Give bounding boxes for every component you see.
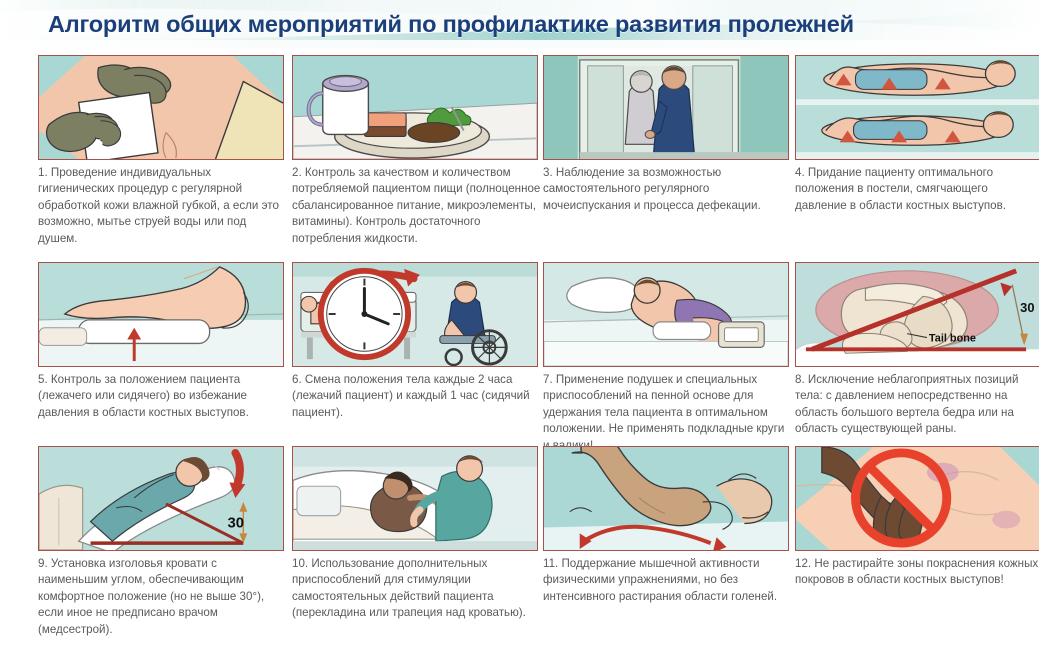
step-image-11 [543, 446, 789, 551]
step-caption-10: 10. Использование дополнительных приспос… [292, 556, 542, 622]
poster-root: Алгоритм общих мероприятий по профилакти… [0, 0, 1039, 650]
step-image-4 [795, 55, 1039, 160]
banner-swoosh-base [0, 40, 1039, 48]
step-image-1 [38, 55, 284, 160]
meal-tray-illustration [293, 56, 537, 159]
step-image-12 [795, 446, 1039, 551]
step-image-9: 30 [38, 446, 284, 551]
optimal-bed-position-illustration [796, 56, 1039, 159]
repositioning-clock-illustration [293, 263, 537, 366]
step-image-5 [38, 262, 284, 367]
step-caption-5: 5. Контроль за положением пациента (лежа… [38, 372, 288, 421]
step-card-9: 30 9. Установка изголовья кровати с наим… [38, 446, 286, 638]
page-title: Алгоритм общих мероприятий по профилакти… [48, 9, 1008, 39]
step-caption-9: 9. Установка изголовья кровати с наимень… [38, 556, 288, 638]
angle-label-8: 30 [1020, 300, 1034, 315]
step-caption-2: 2. Контроль за качеством и количеством п… [292, 165, 542, 247]
step-card-10: 10. Использование дополнительных приспос… [292, 446, 540, 622]
head-of-bed-angle-illustration: 30 [39, 447, 283, 550]
step-caption-1: 1. Проведение индивидуальных гигиеническ… [38, 165, 288, 247]
angle-label-9: 30 [227, 516, 244, 532]
hygiene-sponge-illustration [39, 56, 283, 159]
trochanter-pressure-illustration: 30 Tail bone [796, 263, 1039, 366]
step-card-6: 6. Смена положения тела каждые 2 часа (л… [292, 262, 540, 421]
step-caption-3: 3. Наблюдение за возможностью самостояте… [543, 165, 793, 214]
heel-support-illustration [39, 263, 283, 366]
no-rubbing-illustration [796, 447, 1039, 550]
step-caption-8: 8. Исключение неблагоприятных позиций те… [795, 372, 1039, 438]
step-image-10 [292, 446, 538, 551]
step-caption-6: 6. Смена положения тела каждые 2 часа (л… [292, 372, 542, 421]
foam-pillows-illustration [544, 263, 788, 366]
tail-bone-label: Tail bone [929, 333, 976, 345]
step-card-2: 2. Контроль за качеством и количеством п… [292, 55, 540, 247]
step-caption-4: 4. Придание пациенту оптимального положе… [795, 165, 1039, 214]
step-card-8: 30 Tail bone 8. Исключение неблагоприятн… [795, 262, 1039, 438]
step-card-4: 4. Придание пациенту оптимального положе… [795, 55, 1039, 214]
steps-grid: 1. Проведение индивидуальных гигиеническ… [0, 48, 1039, 650]
toilet-assistance-illustration [544, 56, 788, 159]
step-card-7: 7. Применение подушек и специальных прис… [543, 262, 791, 454]
step-image-8: 30 Tail bone [795, 262, 1039, 367]
step-card-1: 1. Проведение индивидуальных гигиеническ… [38, 55, 286, 247]
step-caption-11: 11. Поддержание мышечной активности физи… [543, 556, 793, 605]
step-image-2 [292, 55, 538, 160]
step-card-12: 12. Не растирайте зоны покраснения кожны… [795, 446, 1039, 589]
step-caption-12: 12. Не растирайте зоны покраснения кожны… [795, 556, 1039, 589]
step-card-11: 11. Поддержание мышечной активности физи… [543, 446, 791, 605]
step-card-3: 3. Наблюдение за возможностью самостояте… [543, 55, 791, 214]
trapeze-bar-illustration [293, 447, 537, 550]
step-card-5: 5. Контроль за положением пациента (лежа… [38, 262, 286, 421]
step-image-6 [292, 262, 538, 367]
leg-exercise-illustration [544, 447, 788, 550]
step-image-7 [543, 262, 789, 367]
header-banner: Алгоритм общих мероприятий по профилакти… [0, 0, 1039, 48]
step-image-3 [543, 55, 789, 160]
step-caption-7: 7. Применение подушек и специальных прис… [543, 372, 793, 454]
